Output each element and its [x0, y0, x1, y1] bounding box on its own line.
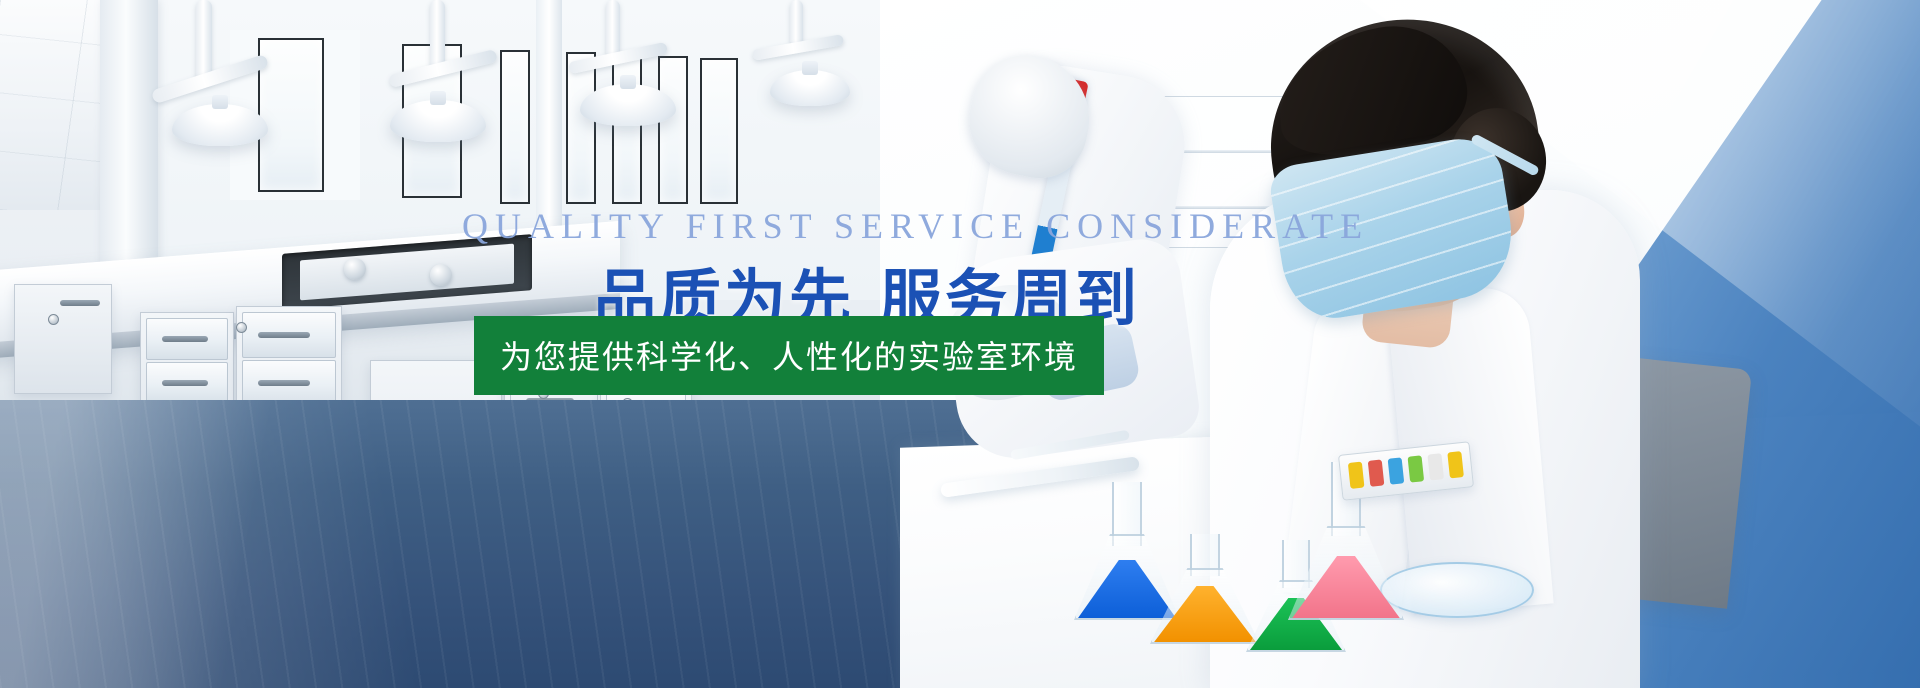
extraction-arm-2-upper — [430, 0, 445, 70]
extraction-arm-3-upper — [606, 0, 620, 58]
flask-orange — [1150, 534, 1260, 644]
window-mid — [500, 50, 530, 204]
vial-5 — [1427, 453, 1444, 480]
window-right-c — [700, 58, 738, 204]
window-left — [258, 38, 324, 192]
drawer-handle-l1 — [162, 336, 208, 342]
window-mid-right — [566, 52, 596, 204]
fume-hood-4 — [770, 70, 850, 106]
cabinet-lock-a — [48, 314, 59, 325]
vial-6 — [1447, 451, 1464, 478]
drawer-lock-m — [236, 322, 247, 333]
bench-knob-1 — [344, 258, 366, 280]
bench-knob-2 — [430, 264, 452, 286]
lab-scene-background — [0, 0, 1920, 688]
vial-1 — [1348, 462, 1365, 489]
floor-reflection — [0, 400, 1000, 688]
window-right-b — [658, 56, 688, 204]
drawer-handle-m2 — [258, 380, 310, 386]
hero-banner: QUALITY FIRST SERVICE CONSIDERATE 品质为先服务… — [0, 0, 1920, 688]
drawer-lock-ra — [538, 388, 549, 399]
structural-column — [100, 0, 158, 300]
extraction-arm-4-upper — [790, 0, 803, 46]
drawer-handle-l2 — [162, 380, 208, 386]
drawer-handle-m1 — [258, 332, 310, 338]
structural-column-secondary — [536, 0, 562, 250]
vial-2 — [1368, 459, 1385, 486]
cabinet-handle-a — [60, 300, 100, 306]
vial-4 — [1408, 455, 1425, 482]
vial-3 — [1388, 457, 1405, 484]
